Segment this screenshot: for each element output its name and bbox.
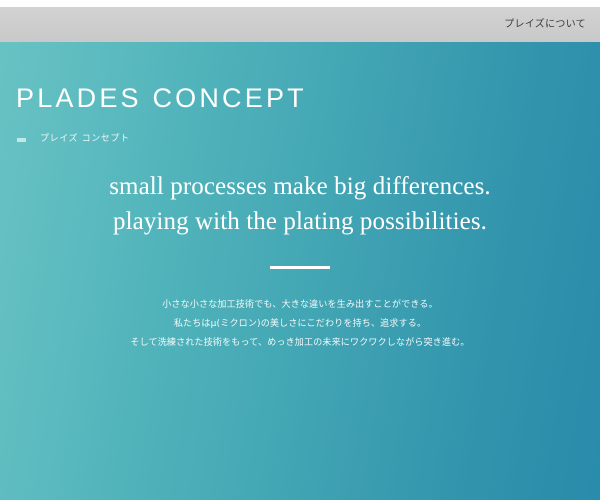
page-root: プレイズについて PLADES CONCEPT プレイズ コンセプト small… (0, 0, 600, 500)
page-title: PLADES CONCEPT (16, 85, 307, 112)
body-copy-line-2: 私たちはμ(ミクロン)の美しさにこだわりを持ち、追求する。 (0, 315, 600, 334)
nav-about-plades[interactable]: プレイズについて (504, 20, 586, 30)
top-white-strip (0, 0, 600, 7)
hero-center-block: small processes make big differences. pl… (0, 170, 600, 353)
dash-marker-icon (17, 138, 26, 142)
tagline-line-1: small processes make big differences. (0, 170, 600, 205)
hero-divider (270, 266, 330, 269)
site-header-bar: プレイズについて (0, 7, 600, 42)
tagline-line-2: playing with the plating possibilities. (0, 205, 600, 240)
body-copy-line-3: そして洗練された技術をもって、めっき加工の未来にワクワクしながら突き進む。 (0, 334, 600, 353)
breadcrumb: プレイズ コンセプト (17, 135, 130, 144)
header-nav: プレイズについて (504, 7, 586, 42)
hero-section: PLADES CONCEPT プレイズ コンセプト small processe… (0, 42, 600, 500)
breadcrumb-label: プレイズ コンセプト (40, 135, 130, 144)
hero-body-copy: 小さな小さな加工技術でも、大きな違いを生み出すことができる。 私たちはμ(ミクロ… (0, 296, 600, 353)
body-copy-line-1: 小さな小さな加工技術でも、大きな違いを生み出すことができる。 (0, 296, 600, 315)
hero-tagline: small processes make big differences. pl… (0, 170, 600, 239)
